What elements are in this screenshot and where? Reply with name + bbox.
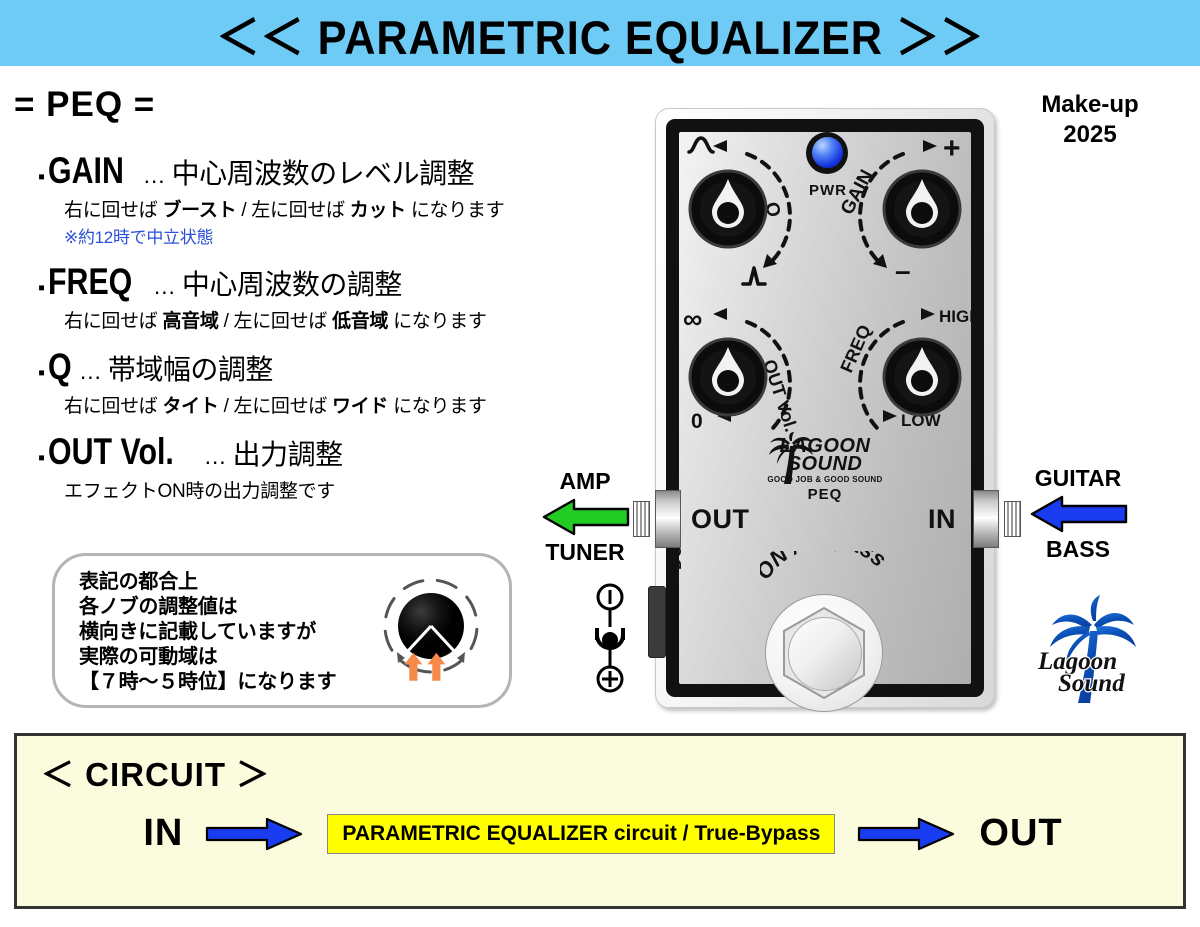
jack-in-hardware bbox=[973, 490, 1021, 548]
spec-sub-gain: 右に回せば ブースト / 左に回せば カット になります bbox=[64, 195, 618, 222]
amp-arrow-left-icon bbox=[540, 498, 630, 536]
knob-out-vol[interactable] bbox=[688, 337, 768, 417]
brand-line-2: SOUND bbox=[760, 455, 890, 473]
q-arrow-left-icon bbox=[713, 140, 727, 152]
circuit-out-label: OUT bbox=[979, 812, 1062, 855]
spec-bullet: ▪ bbox=[38, 363, 45, 383]
makeup-year-value: 2025 bbox=[1010, 120, 1170, 150]
sub-bold-1: タイト bbox=[162, 396, 218, 417]
spec-sub-freq: 右に回せば 高音域 / 左に回せば 低音域 になります bbox=[64, 306, 618, 333]
circuit-in-label: IN bbox=[143, 812, 183, 855]
footswitch[interactable] bbox=[765, 594, 883, 712]
gain-minus-label: – bbox=[895, 255, 911, 286]
note-line: 【７時～５時位】になります bbox=[79, 670, 336, 695]
circuit-arrow-right-2-icon bbox=[857, 817, 957, 851]
power-led bbox=[812, 137, 843, 168]
pedal-brand: LAGOON SOUND GOOD JOB & GOOD SOUND PEQ bbox=[760, 437, 890, 503]
spec-dots: … bbox=[143, 162, 166, 189]
gain-arrow-right-icon bbox=[923, 140, 937, 152]
note-line: 横向きに記載していますが bbox=[79, 620, 336, 645]
page-title: ＜＜ PARAMETRIC EQUALIZER ＞＞ bbox=[216, 0, 984, 68]
spec-item-outvol: ▪ OUT Vol. … 出力調整 エフェクトON時の出力調整です bbox=[38, 431, 618, 503]
guitar-label: GUITAR bbox=[1008, 465, 1148, 492]
pedal-out-label: OUT bbox=[691, 504, 750, 535]
power-led-label: PWR bbox=[790, 182, 866, 199]
title-banner: ＜＜ PARAMETRIC EQUALIZER ＞＞ bbox=[0, 0, 1200, 66]
spec-item-gain: ▪ GAIN … 中心周波数のレベル調整 右に回せば ブースト / 左に回せば … bbox=[38, 150, 618, 248]
spec-bullet: ▪ bbox=[38, 167, 45, 187]
sub-bold-1: ブースト bbox=[162, 200, 236, 221]
q-wide-curve-icon bbox=[689, 138, 713, 152]
circuit-chip-label: PARAMETRIC EQUALIZER circuit / True-Bypa… bbox=[327, 814, 835, 854]
bass-label: BASS bbox=[1008, 536, 1148, 563]
outvol-max-label: ∞ bbox=[683, 304, 702, 334]
spec-desc-gain: 中心周波数のレベル調整 bbox=[172, 152, 475, 192]
spec-key-gain: GAIN bbox=[48, 150, 124, 192]
spec-bullet: ▪ bbox=[38, 278, 45, 298]
spec-dots: … bbox=[153, 273, 176, 300]
sub-post: になります bbox=[388, 311, 486, 332]
circuit-title: ＜ CIRCUIT ＞ bbox=[41, 748, 270, 796]
peq-heading: = PEQ = bbox=[14, 85, 155, 125]
page-root: ＜＜ PARAMETRIC EQUALIZER ＞＞ = PEQ = ▪ GAI… bbox=[0, 0, 1200, 927]
circuit-signal-flow: IN PARAMETRIC EQUALIZER circuit / True-B… bbox=[17, 812, 1189, 855]
amp-label: AMP bbox=[535, 468, 635, 495]
spec-list: ▪ GAIN … 中心周波数のレベル調整 右に回せば ブースト / 左に回せば … bbox=[38, 150, 618, 516]
sub-pre: 右に回せば bbox=[64, 311, 162, 332]
guitar-bass-group: GUITAR BASS bbox=[1008, 465, 1148, 563]
circuit-arrow-right-1-icon bbox=[205, 817, 305, 851]
makeup-year: Make-up 2025 bbox=[1010, 90, 1170, 150]
circuit-panel: ＜ CIRCUIT ＞ IN PARAMETRIC EQUALIZER circ… bbox=[14, 733, 1186, 909]
knob-q[interactable] bbox=[688, 169, 768, 249]
spec-bullet: ▪ bbox=[38, 448, 45, 468]
note-line: 表記の都合上 bbox=[79, 570, 336, 595]
knob-range-diagram-icon bbox=[371, 574, 491, 694]
lagoon-sound-logo-icon: Lagoon Sound bbox=[1030, 595, 1160, 705]
sub-bold-2: カット bbox=[350, 200, 406, 221]
amp-tuner-group: AMP TUNER bbox=[535, 468, 635, 566]
gain-plus-label: + bbox=[943, 132, 961, 165]
spec-item-q: ▪ Q … 帯域幅の調整 右に回せば タイト / 左に回せば ワイド になります bbox=[38, 346, 618, 418]
sub-bold-1: 高音域 bbox=[162, 311, 218, 332]
spec-dots: … bbox=[79, 358, 102, 385]
spec-item-freq: ▪ FREQ … 中心周波数の調整 右に回せば 高音域 / 左に回せば 低音域 … bbox=[38, 261, 618, 333]
spec-key-q: Q bbox=[48, 346, 72, 388]
outvol-arrow-left-icon bbox=[713, 308, 727, 320]
spec-sub-q: 右に回せば タイト / 左に回せば ワイド になります bbox=[64, 391, 618, 418]
freq-high-label: HIGH bbox=[939, 307, 982, 326]
spec-desc-outvol: 出力調整 bbox=[233, 433, 343, 473]
sub-bold-2: 低音域 bbox=[332, 311, 388, 332]
note-line: 各ノブの調整値は bbox=[79, 595, 336, 620]
spec-desc-freq: 中心周波数の調整 bbox=[182, 263, 402, 303]
note-line: 実際の可動域は bbox=[79, 645, 336, 670]
dc-polarity-icon bbox=[588, 583, 632, 693]
pedal-in-label: IN bbox=[928, 504, 956, 535]
dc-jack-hardware bbox=[648, 586, 666, 658]
knob-gain[interactable] bbox=[882, 169, 962, 249]
jack-out-hardware bbox=[633, 490, 681, 548]
on-bypass-label: ON / Bypass bbox=[760, 551, 895, 591]
sub-bold-2: ワイド bbox=[332, 396, 388, 417]
tuner-label: TUNER bbox=[535, 539, 635, 566]
knob-range-note-box: 表記の都合上 各ノブの調整値は 横向きに記載していますが 実際の可動域は 【７時… bbox=[52, 553, 512, 708]
q-narrow-peak-icon bbox=[743, 268, 765, 284]
sub-pre: 右に回せば bbox=[64, 396, 162, 417]
brand-model: PEQ bbox=[760, 486, 890, 503]
spec-dots: … bbox=[204, 443, 227, 470]
sub-mid: / 左に回せば bbox=[219, 396, 332, 417]
spec-key-freq: FREQ bbox=[48, 261, 132, 303]
sub-mid: / 左に回せば bbox=[219, 311, 332, 332]
sub-mid: / 左に回せば bbox=[236, 200, 349, 221]
freq-arrow-right-icon bbox=[921, 308, 935, 320]
sub-pre: 右に回せば bbox=[64, 200, 162, 221]
footswitch-cap[interactable] bbox=[788, 617, 862, 691]
brand-tagline: GOOD JOB & GOOD SOUND bbox=[760, 475, 890, 484]
knob-freq[interactable] bbox=[882, 337, 962, 417]
svg-text:ON / Bypass: ON / Bypass bbox=[760, 551, 892, 584]
spec-desc-q: 帯域幅の調整 bbox=[108, 348, 273, 388]
sub-post: になります bbox=[388, 396, 486, 417]
makeup-label: Make-up bbox=[1010, 90, 1170, 120]
spec-key-outvol: OUT Vol. bbox=[48, 431, 174, 473]
sub-post: になります bbox=[406, 200, 504, 221]
guitar-arrow-left-icon bbox=[1028, 495, 1128, 533]
knob-range-note-text: 表記の都合上 各ノブの調整値は 横向きに記載していますが 実際の可動域は 【７時… bbox=[79, 570, 336, 695]
spec-note-gain: ※約12時で中立状態 bbox=[64, 223, 618, 248]
logo-text-sound: Sound bbox=[1058, 670, 1125, 697]
